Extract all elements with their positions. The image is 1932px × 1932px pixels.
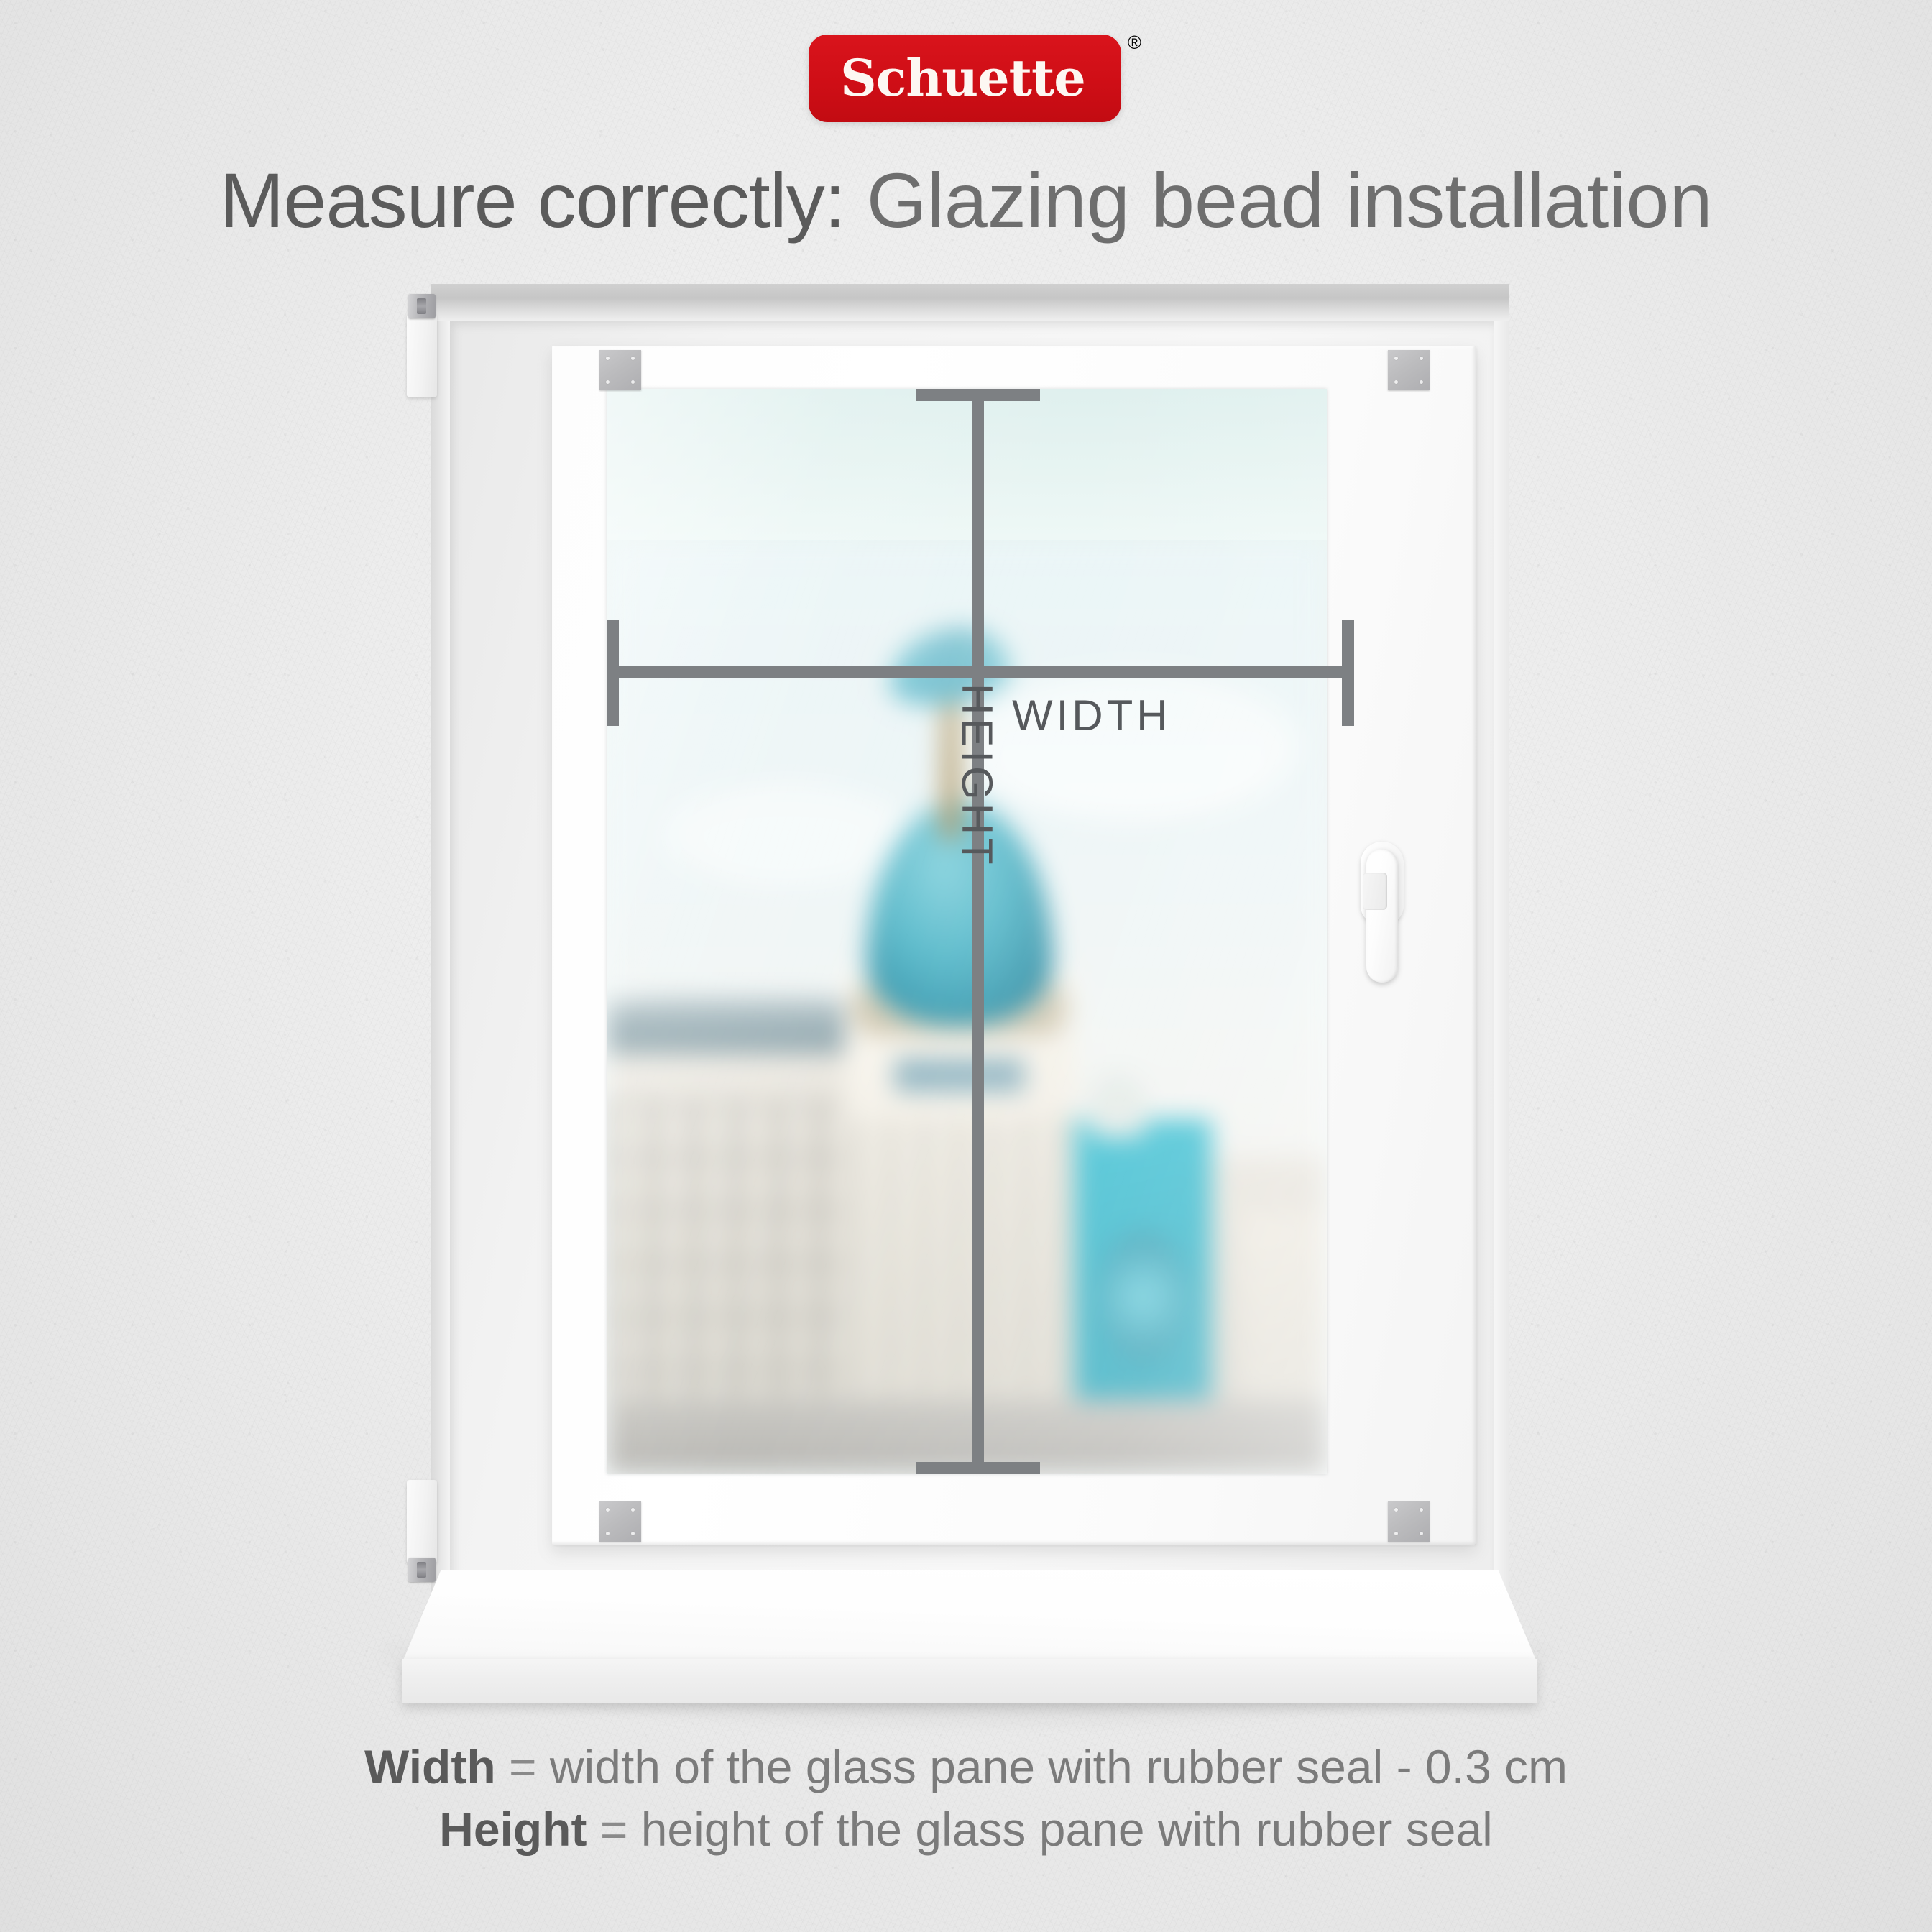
page-title-light: Glazing bead installation: [867, 157, 1713, 244]
window-handle[interactable]: [1366, 849, 1398, 983]
caption-block: Width = width of the glass pane with rub…: [0, 1736, 1932, 1861]
caption-key-width: Width: [364, 1740, 496, 1793]
caption-equals: =: [509, 1740, 537, 1793]
page-title-strong: Measure correctly:: [219, 157, 845, 244]
caption-text-width: width of the glass pane with rubber seal…: [550, 1740, 1568, 1793]
caption-text-height: height of the glass pane with rubber sea…: [641, 1803, 1493, 1856]
reveal-right-jamb: [1494, 284, 1509, 1592]
page-title: Measure correctly: Glazing bead installa…: [0, 160, 1932, 241]
cityscape-photo: [607, 540, 1327, 1474]
caption-key-height: Height: [439, 1803, 586, 1856]
reveal-left-jamb: [431, 284, 450, 1592]
registered-trademark-icon: ®: [1128, 32, 1141, 54]
logo-wordmark: Schuette: [840, 53, 1090, 103]
caption-row-height: Height = height of the glass pane with r…: [0, 1798, 1932, 1861]
window-illustration: WIDTH HEIGHT: [431, 284, 1509, 1592]
glazing-bead-bracket-bottom-left: [599, 1501, 641, 1542]
schuette-logo: Schuette ®: [809, 34, 1121, 122]
window-sill-top: [402, 1570, 1537, 1662]
hinge-bottom-pin-icon: [408, 1558, 436, 1582]
reveal-head-lintel: [431, 284, 1509, 321]
glazing-bead-bracket-top-left: [599, 350, 641, 390]
hinge-top: [407, 314, 437, 397]
window-sash: WIDTH HEIGHT: [552, 346, 1476, 1545]
glass-pane: [607, 389, 1327, 1474]
glazing-bead-bracket-top-right: [1388, 350, 1430, 390]
hinge-bottom: [407, 1480, 437, 1563]
caption-row-width: Width = width of the glass pane with rub…: [0, 1736, 1932, 1798]
glazing-bead-bracket-bottom-right: [1388, 1501, 1430, 1542]
photo-haze: [607, 540, 1327, 1474]
window-handle-neck: [1363, 873, 1387, 910]
caption-equals: =: [600, 1803, 628, 1856]
hinge-top-pin-icon: [408, 294, 436, 318]
window-sill-front-edge: [402, 1659, 1537, 1703]
